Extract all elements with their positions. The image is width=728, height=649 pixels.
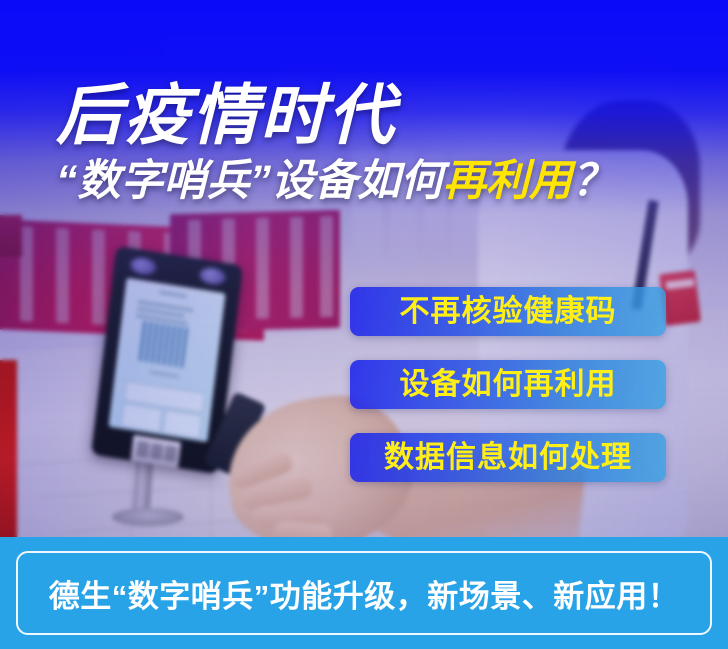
- photo-kiosk-camera: [129, 256, 157, 276]
- photo-red-strip-top: [0, 215, 22, 257]
- key-point-pill-3[interactable]: 数据信息如何处理: [350, 433, 666, 482]
- photo-kiosk-base: [112, 508, 184, 526]
- headline-block: 后疫情时代 “数字哨兵”设备如何再利用？: [56, 78, 615, 206]
- footer-banner: 德生“数字哨兵”功能升级，新场景、新应用！: [0, 537, 728, 649]
- key-point-label: 不再核验健康码: [400, 297, 617, 327]
- headline-line-1: 后疫情时代: [56, 78, 615, 152]
- headline-line-2-prefix: “数字哨兵”设备如何: [56, 157, 443, 205]
- headline-accent-text: 再利用: [443, 157, 572, 205]
- photo-kiosk-screen: [108, 278, 225, 443]
- headline-question-mark: ？: [572, 157, 615, 205]
- key-point-pill-2[interactable]: 设备如何再利用: [350, 360, 666, 409]
- key-point-label: 数据信息如何处理: [384, 443, 632, 473]
- headline-line-2: “数字哨兵”设备如何再利用？: [56, 156, 615, 206]
- key-point-pill-1[interactable]: 不再核验健康码: [350, 287, 666, 336]
- photo-kiosk-camera: [199, 266, 227, 286]
- footer-banner-text: 德生“数字哨兵”功能升级，新场景、新应用！: [0, 537, 728, 649]
- photo-red-strip: [0, 360, 17, 537]
- poster-root: 后疫情时代 “数字哨兵”设备如何再利用？ 不再核验健康码 设备如何再利用 数据信…: [0, 0, 728, 649]
- key-point-label: 设备如何再利用: [400, 370, 617, 400]
- photo-kiosk-qr-code: [139, 321, 191, 368]
- key-points-list: 不再核验健康码 设备如何再利用 数据信息如何处理: [350, 287, 666, 482]
